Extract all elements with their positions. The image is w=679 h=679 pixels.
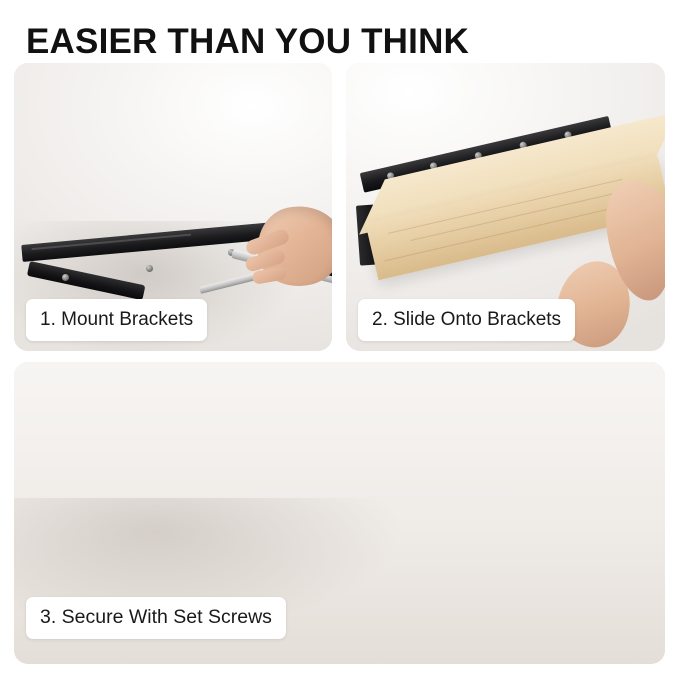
screw-icon: [62, 274, 69, 281]
caption-step-2: 2. Slide Onto Brackets: [358, 299, 575, 341]
instruction-graphic: EASIER THAN YOU THINK Black metal floati…: [0, 0, 679, 679]
screw-icon: [146, 265, 153, 272]
wall-shadow: [14, 498, 483, 664]
caption-step-3: 3. Secure With Set Screws: [26, 597, 286, 639]
caption-step-1: 1. Mount Brackets: [26, 299, 207, 341]
page-title: EASIER THAN YOU THINK: [26, 22, 469, 62]
